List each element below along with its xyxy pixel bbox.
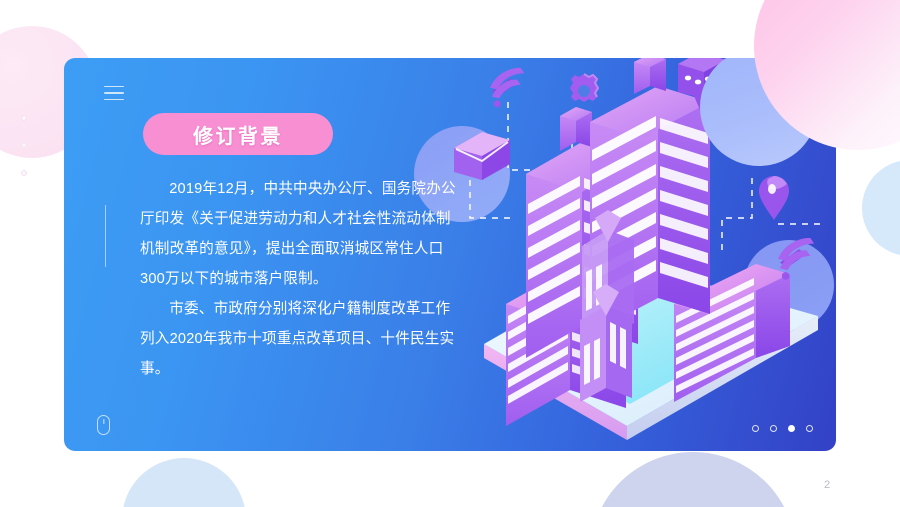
wifi-signal-icon [778,238,814,280]
wifi-signal-icon [490,68,524,108]
gear-icon [570,74,598,102]
page-number: 2 [824,479,830,491]
pagination-dot-4[interactable] [806,425,813,432]
hamburger-line [104,86,124,87]
location-pin-icon [759,176,789,220]
decorative-dot [21,170,27,176]
light-blue-circle-right [862,160,900,256]
text-accent-line [105,205,106,267]
lavender-circle-bottom [590,452,796,507]
body-paragraph-2: 市委、市政府分别将深化户籍制度改革工作列入2020年我市十项重点改革项目、十件民… [140,294,462,384]
decorative-dot [21,142,27,148]
light-blue-circle-bottom [122,458,246,507]
body-text-block: 2019年12月，中共中央办公厅、国务院办公厅印发《关于促进劳动力和人才社会性流… [140,174,462,384]
hamburger-line [104,92,124,93]
envelope-icon [454,132,510,180]
decorative-dot [21,115,27,121]
section-title-text: 修订背景 [193,120,283,149]
pagination-dot-2[interactable] [770,425,777,432]
hamburger-line [104,99,124,100]
body-paragraph-1: 2019年12月，中共中央办公厅、国务院办公厅印发《关于促进劳动力和人才社会性流… [140,174,462,294]
mouse-scroll-icon [97,415,110,435]
slide-canvas: 修订背景 2019年12月，中共中央办公厅、国务院办公厅印发《关于促进劳动力和人… [0,0,900,507]
section-title-badge: 修订背景 [143,113,333,155]
hamburger-menu-icon[interactable] [104,86,124,100]
pagination-dots[interactable] [752,425,813,432]
content-card: 修订背景 2019年12月，中共中央办公厅、国务院办公厅印发《关于促进劳动力和人… [64,58,836,451]
pagination-dot-3-active[interactable] [788,425,795,432]
pagination-dot-1[interactable] [752,425,759,432]
